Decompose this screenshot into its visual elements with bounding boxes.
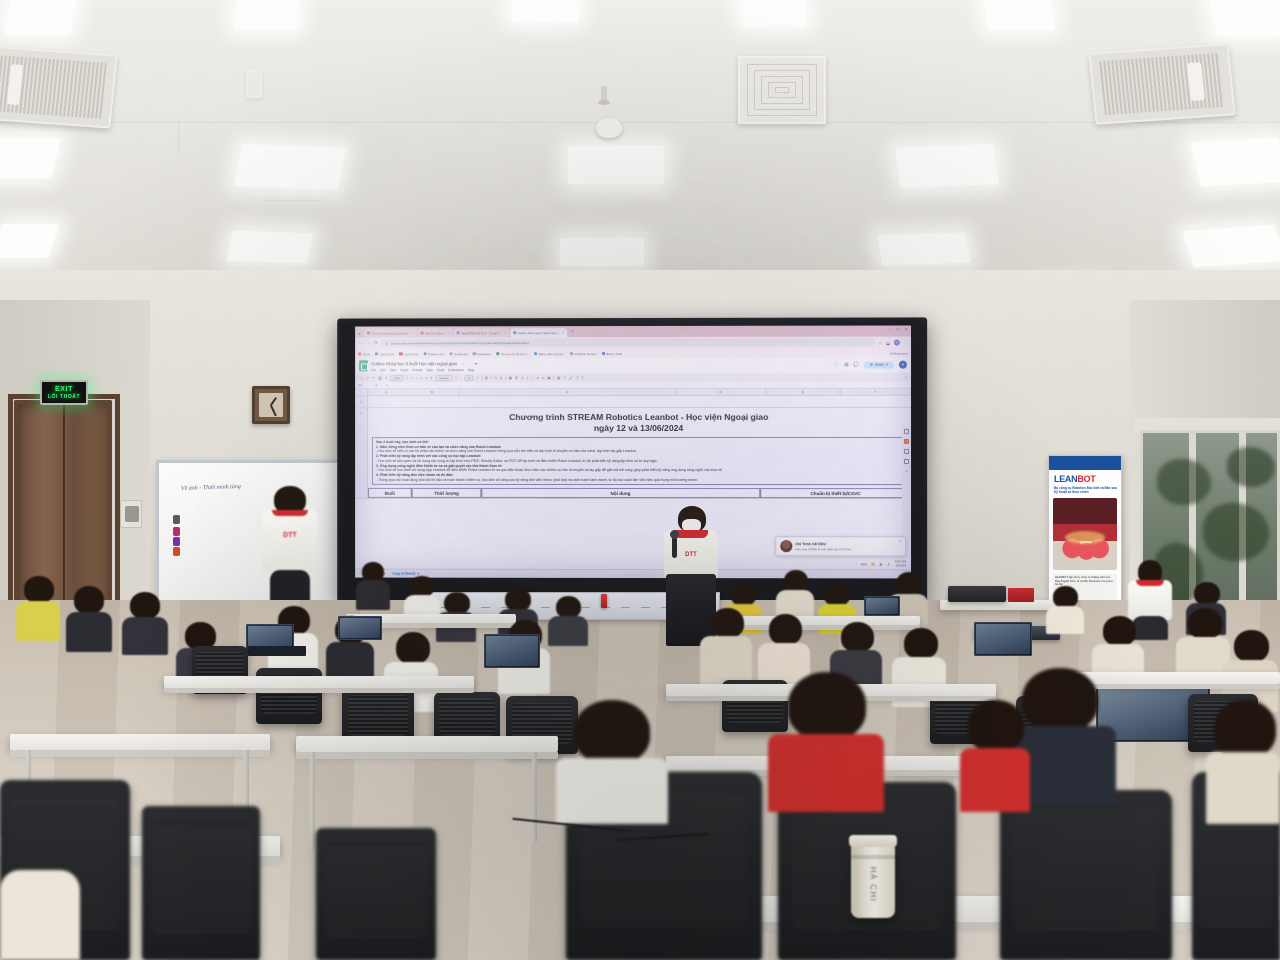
- maximize-icon[interactable]: ◻: [896, 327, 899, 332]
- forward-icon[interactable]: →: [366, 341, 371, 346]
- bookmark-label: Dashboard: [477, 352, 491, 356]
- notification-close-icon[interactable]: ✕: [899, 539, 902, 543]
- increase-font-size-icon[interactable]: +: [477, 376, 479, 380]
- add-addon-icon[interactable]: +: [905, 469, 907, 474]
- url-text: docs.google.com/spreadsheets/d/1uopG0UvC…: [391, 341, 529, 345]
- menu-view[interactable]: View: [389, 368, 396, 372]
- equipment-case: [948, 586, 1006, 602]
- language-indicator[interactable]: ENG: [861, 562, 868, 566]
- ceiling-light: [1182, 225, 1280, 267]
- extensions-icon[interactable]: ⬓: [886, 340, 890, 345]
- volume-icon[interactable]: 🔊: [879, 562, 883, 566]
- air-conditioner-unit: [0, 45, 118, 128]
- bookmark-label: Leanbot G2: [380, 352, 395, 356]
- calendar-icon[interactable]: [904, 429, 909, 434]
- objectives-text-block[interactable]: Sau 2 buổi này, học sinh có thể: 1. Nắm …: [372, 437, 907, 486]
- red-equipment-box: [1008, 588, 1034, 602]
- chair[interactable]: [316, 828, 436, 960]
- student-foreground: [768, 672, 884, 808]
- sheets-header-actions: 🕘 ▤ 💬 ⊕ Share ▾ H: [834, 361, 907, 369]
- menu-edit[interactable]: Edit: [380, 368, 385, 372]
- sheets-toolbar: 🔍 ↶ ↷ 🖨 ¶ 120% ✓ ↕ ⌗ ≡ Σ Default − 12 + …: [355, 373, 911, 383]
- bookmark-item[interactable]: Tên em cho dữ liệu tr...: [496, 352, 529, 356]
- all-bookmarks-button[interactable]: All Bookmarks: [888, 351, 908, 355]
- insert-link-icon[interactable]: ▤: [557, 376, 560, 380]
- document-title[interactable]: Outline Khóa học 5 buổi Học viện ngoại g…: [371, 361, 457, 366]
- ceiling-light: [895, 144, 999, 187]
- tab-label: Blockly Editor: [426, 331, 444, 335]
- objectives-line: - Thông qua các hoạt động chia đội thi đ…: [376, 478, 903, 483]
- share-label: Share: [875, 363, 884, 367]
- menu-format[interactable]: Format: [412, 368, 422, 372]
- menu-data[interactable]: Data: [426, 368, 433, 372]
- laptop[interactable]: [338, 616, 382, 640]
- back-icon[interactable]: ←: [358, 341, 363, 346]
- ceiling-light: [983, 0, 1054, 30]
- bold-icon[interactable]: B: [485, 376, 487, 380]
- notification-toast[interactable]: Chị Trinh GD EDU Hôm nay (12/06) là sinh…: [775, 536, 906, 556]
- profile-avatar[interactable]: H: [894, 340, 900, 346]
- bookmark-item[interactable]: Fullname List: [423, 352, 444, 356]
- increase-decimal-icon[interactable]: ≡: [425, 376, 427, 380]
- tasks-icon[interactable]: [904, 439, 909, 444]
- paint-format-icon[interactable]: ¶: [385, 376, 387, 380]
- ceiling-light: [560, 238, 644, 266]
- column-header-c[interactable]: C: [459, 389, 676, 395]
- banner-brand-part1: LEAN: [1054, 474, 1077, 484]
- ceiling-light: [227, 231, 313, 264]
- browser-tab-active[interactable]: Outline Khóa học 5 buổi Học v ✕: [510, 328, 567, 337]
- sprinkler-head: [601, 86, 607, 102]
- arena-marker: [601, 594, 607, 608]
- font-family-select[interactable]: Default: [435, 375, 452, 381]
- text-rotation-icon[interactable]: ▣: [547, 376, 550, 380]
- bookmark-label: Đăng nhận công tá...: [539, 352, 565, 356]
- strikethrough-icon[interactable]: S: [495, 376, 497, 380]
- row-1-cells[interactable]: [368, 396, 911, 407]
- share-lock-icon: ⊕: [870, 363, 873, 367]
- bookmark-item[interactable]: Dashboard: [473, 352, 491, 356]
- bookmark-item[interactable]: Leanbot G2: [375, 352, 394, 356]
- font-size-input[interactable]: 12: [464, 375, 473, 381]
- close-window-icon[interactable]: ✕: [905, 326, 908, 331]
- minimize-icon[interactable]: —: [887, 327, 891, 332]
- google-sheets-icon: [359, 360, 368, 371]
- bookmark-item[interactable]: Đăng nhận công tá...: [534, 352, 565, 356]
- tab-close-icon[interactable]: ✕: [411, 331, 414, 335]
- chair[interactable]: [1000, 790, 1172, 960]
- comment-icon[interactable]: 💬: [854, 362, 860, 368]
- foreground-table: [296, 736, 558, 752]
- clock[interactable]: 9:02 AM 9/12/20: [895, 561, 906, 568]
- tab-close-icon[interactable]: ✕: [504, 331, 507, 335]
- tab-label: Outline Khóa học 5 buổi Học v: [518, 331, 558, 335]
- microphone[interactable]: [672, 536, 677, 558]
- smoke-detector: [596, 118, 622, 138]
- italic-icon[interactable]: I: [491, 376, 492, 380]
- ceiling-light: [568, 146, 664, 184]
- bookmark-star-icon[interactable]: ☆: [878, 340, 882, 345]
- menu-file[interactable]: File: [371, 368, 376, 372]
- text-color-icon[interactable]: A: [500, 376, 502, 380]
- contacts-icon[interactable]: [904, 449, 909, 454]
- presentation-title-line1: Chương trình STREAM Robotics Leanbot - H…: [368, 412, 911, 423]
- bookmark-label: Bảng 1 Tuần: [606, 352, 622, 356]
- exit-sign-en: EXIT: [55, 386, 73, 394]
- bookmark-label: Fullname List: [428, 352, 445, 356]
- schedule-table-header: Buổi Thời lượng Nội dung Chuẩn bị thiết …: [368, 488, 911, 498]
- redo-icon[interactable]: ↷: [372, 376, 375, 380]
- row-header-2[interactable]: 2: [355, 408, 368, 498]
- name-box-chevron-down-icon[interactable]: ▾: [375, 383, 377, 387]
- clock-date: 9/12/20: [895, 564, 906, 567]
- name-box[interactable]: D4 ▾: [355, 383, 381, 387]
- browser-tab[interactable]: Course Introducing Leanbot ✕: [364, 328, 417, 337]
- account-avatar[interactable]: H: [899, 361, 907, 369]
- fill-color-icon[interactable]: ▦: [509, 376, 512, 380]
- move-folder-icon[interactable]: 🗀: [467, 361, 471, 367]
- row-2-cells[interactable]: Chương trình STREAM Robotics Leanbot - H…: [368, 408, 911, 499]
- bookmark-label: Fullname Support: [575, 352, 597, 356]
- print-icon[interactable]: 🖨: [378, 376, 382, 380]
- more-formats-icon[interactable]: Σ: [430, 376, 432, 380]
- student-table: [164, 676, 474, 688]
- ceiling-light: [512, 0, 578, 22]
- bookmark-item[interactable]: Leanbot G4: [399, 352, 418, 356]
- name-box-value: D4: [358, 383, 362, 387]
- tab-favicon: [367, 331, 370, 334]
- browser-omnibar: ← → ⟳ 🔒 docs.google.com/spreadsheets/d/1…: [355, 337, 911, 350]
- tab-label: DigitalTwins RJ2LX - Smart L: [461, 331, 500, 335]
- whiteboard-note: Vẽ ảnh - Thiết minh tảng: [181, 484, 241, 492]
- lock-icon: 🔒: [385, 341, 389, 345]
- air-conditioner-unit: [1088, 43, 1236, 125]
- person-at-whiteboard: DTT: [258, 486, 320, 606]
- ceiling-light: [4, 0, 77, 34]
- browser-tab[interactable]: Blockly Editor ✕: [418, 328, 453, 337]
- classroom-photo: EXIT LỐI THOÁT Vẽ ảnh - Thiết minh tảng …: [0, 0, 1280, 960]
- fx-icon: fx: [381, 383, 388, 387]
- bookmark-item[interactable]: Dashboard: [449, 352, 467, 356]
- ceiling-light: [1191, 138, 1280, 187]
- exit-sign-vi: LỐI THOÁT: [48, 394, 80, 400]
- wall-socket: [120, 500, 142, 528]
- wall-clock: [252, 386, 290, 424]
- sheets-header: Outline Khóa học 5 buổi Học viện ngoại g…: [355, 358, 911, 374]
- borders-icon[interactable]: ☰: [515, 376, 518, 380]
- functions-icon[interactable]: Σ: [582, 376, 584, 380]
- row-header-1[interactable]: 1: [355, 396, 368, 407]
- column-header-d[interactable]: D: [676, 389, 766, 395]
- present-icon[interactable]: ▤: [844, 362, 848, 368]
- exit-sign: EXIT LỐI THOÁT: [40, 380, 88, 405]
- table-header-session[interactable]: Buổi: [368, 488, 412, 498]
- table-header-duration[interactable]: Thời lượng: [412, 488, 482, 498]
- presentation-title-line2: ngày 12 và 13/06/2024: [368, 423, 911, 434]
- menu-extensions[interactable]: Extensions: [448, 368, 464, 372]
- ceiling-light: [234, 144, 345, 190]
- whiteboard-magnet[interactable]: [173, 527, 180, 536]
- ceiling-light: [0, 138, 61, 178]
- bookmark-item[interactable]: Fullname Support: [570, 352, 597, 356]
- shirt-logo: DTT: [680, 552, 702, 560]
- student-foreground: [1206, 700, 1280, 820]
- system-tray: ^ ENG 📶 🔊 🔋 9:02 AM 9/12/20: [855, 560, 906, 567]
- reload-icon[interactable]: ⟳: [374, 341, 378, 346]
- grid-rows: 1 2 Chương trình STREAM Robotics Leanbot…: [355, 396, 911, 500]
- new-tab-button[interactable]: +: [568, 328, 577, 337]
- air-vent: [246, 70, 262, 98]
- version-history-icon[interactable]: 🕘: [834, 362, 839, 368]
- table-header-equipment[interactable]: Chuẩn bị thiết bị/CSVC: [760, 488, 911, 498]
- student-foreground: [960, 700, 1030, 810]
- menu-help[interactable]: Help: [468, 368, 475, 372]
- banner-brand: LEANBOT: [1054, 474, 1095, 484]
- bookmark-label: Dashboard: [454, 352, 468, 356]
- notification-avatar: [780, 540, 792, 552]
- ceiling-light: [235, 0, 300, 30]
- ceiling-light: [0, 224, 60, 258]
- decrease-decimal-icon[interactable]: ⌗: [421, 376, 423, 380]
- table-header-content[interactable]: Nội dung: [481, 488, 760, 498]
- column-header-e[interactable]: E: [766, 389, 840, 395]
- tab-close-icon[interactable]: ✕: [447, 331, 450, 335]
- foreground-table: [10, 734, 270, 750]
- bookmark-item[interactable]: Gmail: [358, 352, 370, 356]
- search-icon[interactable]: 🔍: [359, 376, 363, 380]
- currency-icon[interactable]: ✓: [410, 376, 413, 380]
- text-wrap-icon[interactable]: ∞: [542, 376, 544, 380]
- battery-icon[interactable]: 🔋: [887, 562, 891, 566]
- tab-search-icon[interactable]: ▾: [358, 332, 360, 337]
- merge-cells-icon[interactable]: ⇕: [521, 376, 524, 380]
- banner-brand-part2: BOT: [1077, 474, 1095, 484]
- laptop[interactable]: [864, 596, 900, 616]
- bookmark-label: Tên em cho dữ liệu tr...: [501, 352, 530, 356]
- student-foreground: [556, 700, 668, 820]
- tab-favicon: [457, 331, 460, 334]
- collapse-toolbar-icon[interactable]: ^: [905, 375, 907, 380]
- share-button[interactable]: ⊕ Share ▾: [864, 361, 894, 368]
- omnibar-actions: ☆ ⬓ H ⋮: [878, 340, 908, 346]
- share-chevron-down-icon[interactable]: ▾: [886, 363, 888, 367]
- laptop[interactable]: [248, 646, 306, 656]
- display-screen: ▾ Course Introducing Leanbot ✕ Blockly E…: [355, 325, 911, 578]
- menu-insert[interactable]: Insert: [400, 368, 408, 372]
- whiteboard-magnet[interactable]: [173, 537, 180, 546]
- cup-label: HÀ CHI: [869, 867, 878, 903]
- tab-favicon: [513, 331, 516, 334]
- banner-tagline: Bộ công cụ Robotics Đặc biệt và Bản sao …: [1054, 486, 1117, 495]
- ceiling-light: [741, 0, 807, 26]
- sheets-side-panel: +: [902, 425, 911, 550]
- bookmark-label: Gmail: [363, 352, 370, 356]
- column-header-f[interactable]: F: [841, 389, 911, 395]
- horizontal-align-icon[interactable]: ↔: [530, 376, 533, 380]
- polo-shirt: DTT: [262, 510, 318, 572]
- travel-cup[interactable]: HÀ CHI: [851, 842, 895, 918]
- whiteboard-magnet[interactable]: [173, 547, 180, 556]
- ceiling-light: [1208, 0, 1280, 36]
- notification-detail: Hôm nay (12/06) là sinh nhật của Chị Tri…: [795, 547, 851, 551]
- wifi-icon[interactable]: 📶: [871, 562, 875, 566]
- insert-comment-icon[interactable]: ▽: [563, 376, 566, 380]
- tab-close-icon[interactable]: ✕: [562, 331, 565, 335]
- cloud-status-icon: ☁: [474, 361, 478, 367]
- tray-expand-chevron-icon[interactable]: ^: [855, 562, 856, 566]
- maps-icon[interactable]: [904, 459, 909, 464]
- grid-row: 1: [355, 396, 911, 408]
- browser-tab-strip: ▾ Course Introducing Leanbot ✕ Blockly E…: [355, 325, 911, 337]
- banner-photo: [1053, 498, 1117, 570]
- column-header-a[interactable]: A: [368, 389, 406, 395]
- bookmark-label: Leanbot G4: [404, 352, 419, 356]
- menu-icon[interactable]: ⋮: [904, 340, 908, 345]
- whiteboard-magnet[interactable]: [173, 515, 180, 524]
- laptop[interactable]: [974, 622, 1032, 656]
- star-icon[interactable]: ☆: [461, 361, 464, 367]
- browser-tab[interactable]: DigitalTwins RJ2LX - Smart L ✕: [454, 328, 509, 337]
- menu-tools[interactable]: Tools: [437, 368, 444, 372]
- laptop[interactable]: [484, 634, 540, 668]
- tab-favicon: [421, 331, 424, 334]
- insert-chart-icon[interactable]: 🖌: [569, 376, 573, 380]
- air-vent: [738, 56, 826, 124]
- vertical-align-icon[interactable]: A: [537, 376, 539, 380]
- column-header-b[interactable]: B: [406, 389, 460, 395]
- title-icons: ☆ 🗀 ☁: [461, 361, 477, 367]
- tab-label: Course Introducing Leanbot: [371, 331, 408, 335]
- sheets-menubar: File Edit View Insert Format Data Tools …: [371, 368, 477, 372]
- polo-shirt: [1128, 580, 1172, 620]
- url-bar[interactable]: 🔒 docs.google.com/spreadsheets/d/1uopG0U…: [381, 339, 875, 348]
- notification-title: Chị Trinh GD EDU: [795, 542, 851, 546]
- select-all-corner[interactable]: [355, 389, 368, 395]
- decrease-font-size-icon[interactable]: −: [459, 376, 461, 380]
- presentation-title: Chương trình STREAM Robotics Leanbot - H…: [368, 408, 911, 436]
- bookmark-item[interactable]: Bảng 1 Tuần: [602, 352, 623, 356]
- percent-icon[interactable]: ↕: [416, 376, 418, 380]
- undo-icon[interactable]: ↶: [366, 376, 369, 380]
- led-wall-display: ▾ Course Introducing Leanbot ✕ Blockly E…: [337, 317, 927, 604]
- student-foreground: [0, 870, 80, 960]
- filter-icon[interactable]: ▽: [576, 376, 579, 380]
- cup-lid: [849, 835, 897, 847]
- ceiling-light: [877, 232, 970, 265]
- zoom-level-select[interactable]: 120%: [390, 375, 404, 381]
- chair[interactable]: [142, 806, 260, 960]
- window-controls: — ◻ ✕: [887, 326, 908, 331]
- shirt-logo: DTT: [278, 531, 303, 544]
- all-bookmarks-label: All Bookmarks: [890, 351, 908, 355]
- grid-row: 2 Chương trình STREAM Robotics Leanbot -…: [355, 408, 911, 500]
